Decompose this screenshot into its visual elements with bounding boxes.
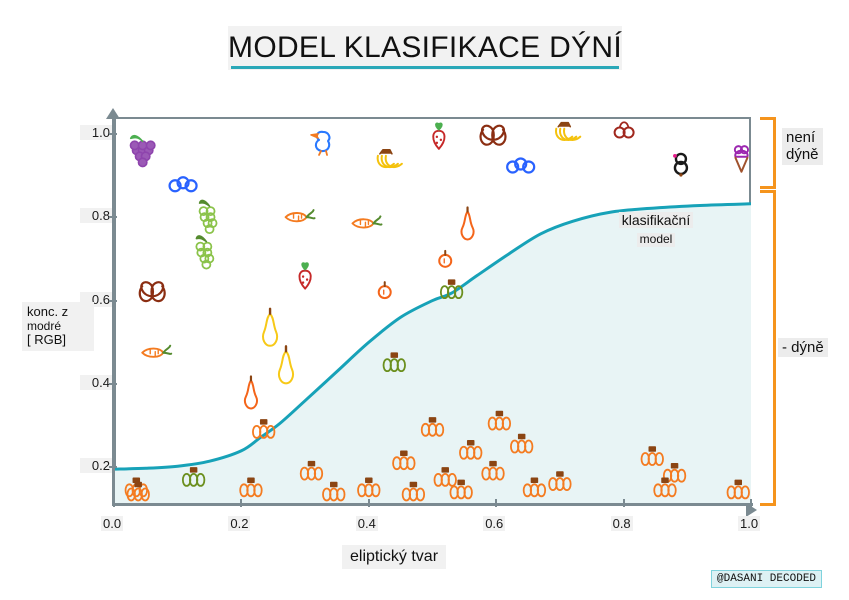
datapoint-duck-blue[interactable] [311, 132, 329, 155]
x-tick-label: 0.4 [356, 516, 378, 531]
datapoint-blueberries[interactable] [507, 158, 534, 172]
datapoint-grapes-green[interactable] [196, 236, 213, 269]
y-tick-mark [109, 466, 117, 468]
page-title: MODEL KLASIFIKACE DÝNÍ [228, 26, 622, 70]
datapoint-squash-yellow[interactable] [279, 346, 293, 383]
classifier-annotation-line1: klasifikační [619, 212, 693, 228]
x-tick-label: 0.2 [228, 516, 250, 531]
x-axis-title: eliptický tvar [342, 545, 446, 569]
chart-canvas [114, 117, 751, 505]
x-tick-label: 0.6 [483, 516, 505, 531]
bracket-not-pumpkin-label-line1: není [786, 129, 819, 146]
y-axis-line [112, 117, 115, 506]
classifier-annotation: klasifikační model [604, 212, 708, 249]
datapoint-gourd-orange[interactable] [245, 376, 257, 408]
y-axis-title-line3: [ RGB] [27, 333, 89, 348]
watermark: @DASANI DECODED [711, 570, 822, 588]
datapoint-grapes-purple[interactable] [130, 136, 154, 167]
y-axis-title: konc. z modré [ RGB] [22, 302, 94, 351]
datapoint-cherry-red[interactable] [615, 122, 634, 137]
datapoint-gourd-small-orange[interactable] [439, 251, 451, 267]
datapoint-banana-yellow[interactable] [378, 150, 402, 167]
y-tick-mark [109, 133, 117, 135]
x-tick-mark [368, 499, 370, 507]
bracket-pumpkin-label: - dýně [778, 338, 828, 357]
x-tick-label: 0.0 [101, 516, 123, 531]
datapoint-gourd-small-orange[interactable] [379, 282, 391, 298]
datapoint-gourd-orange[interactable] [461, 207, 473, 239]
y-tick-mark [109, 383, 117, 385]
page-title-text: MODEL KLASIFIKACE DÝNÍ [228, 31, 622, 65]
datapoint-carrot-orange[interactable] [142, 346, 171, 357]
bracket-pumpkin [760, 190, 780, 506]
y-tick-label: 0.8 [80, 208, 112, 223]
datapoint-strawberry-red[interactable] [299, 263, 310, 289]
x-tick-mark [113, 499, 115, 507]
x-tick-mark [623, 499, 625, 507]
y-axis-title-line1: konc. z [27, 305, 89, 320]
x-tick-label: 1.0 [738, 516, 760, 531]
x-axis-line [114, 503, 753, 506]
datapoint-strawberry-red[interactable] [433, 123, 444, 149]
datapoint-blueberries[interactable] [170, 177, 197, 191]
bracket-not-pumpkin [760, 117, 780, 189]
y-tick-label: 0.2 [80, 458, 112, 473]
datapoint-pretzel[interactable] [481, 126, 506, 145]
y-tick-label: 1.0 [80, 125, 112, 140]
x-tick-label: 0.8 [611, 516, 633, 531]
y-tick-label: 0.4 [80, 375, 112, 390]
y-axis-arrow-icon [106, 108, 120, 119]
bracket-not-pumpkin-label: není dýně [782, 128, 823, 165]
datapoint-squash-yellow[interactable] [263, 309, 277, 346]
slide-canvas: MODEL KLASIFIKACE DÝNÍ 0.20.40.60.81.0 0… [0, 0, 849, 600]
datapoint-grapes-green[interactable] [200, 200, 217, 233]
y-axis-title-line2: modré [27, 320, 89, 333]
x-tick-mark [495, 499, 497, 507]
datapoint-banana-yellow[interactable] [556, 123, 580, 140]
datapoint-pretzel-dark[interactable] [674, 154, 687, 176]
y-tick-mark [109, 300, 117, 302]
title-underline [231, 66, 619, 69]
datapoint-carrot-orange[interactable] [352, 216, 381, 227]
bracket-not-pumpkin-label-line2: dýně [786, 146, 819, 163]
datapoint-icecream-purple[interactable] [735, 146, 748, 172]
classifier-annotation-line2: model [637, 233, 676, 247]
x-tick-mark [240, 499, 242, 507]
x-tick-mark [750, 499, 752, 507]
y-tick-mark [109, 216, 117, 218]
datapoint-carrot-orange[interactable] [286, 210, 315, 221]
datapoint-pretzel[interactable] [140, 282, 165, 301]
